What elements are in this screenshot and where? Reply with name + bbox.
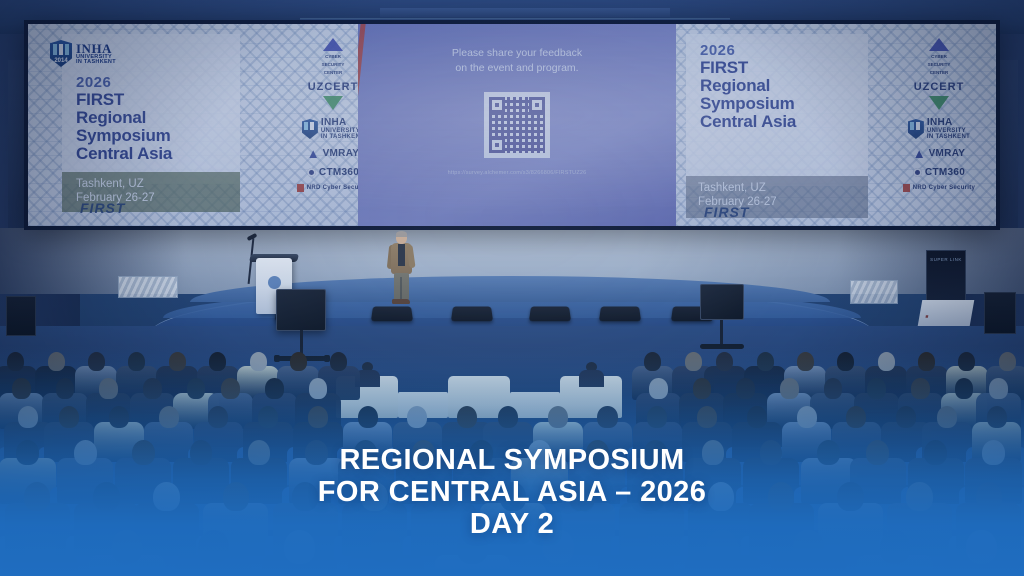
slide-title-block-left: 2026 FIRST Regional Symposium Central As… — [76, 74, 246, 163]
speaker-shoes — [392, 299, 410, 304]
ctm360-dot-icon — [913, 168, 922, 177]
csc-triangle-icon — [929, 38, 949, 51]
audience-member-head — [780, 378, 798, 399]
nrd-wordmark: NRD Cyber Security — [913, 185, 975, 191]
first-logo: FIRST — [704, 204, 749, 220]
csc-line1: CYBER — [931, 54, 947, 59]
venue-city: Tashkent, UZ — [76, 177, 240, 191]
inha-shield-bars — [53, 44, 69, 55]
headline-title: REGIONAL SYMPOSIUM FOR CENTRAL ASIA – 20… — [0, 444, 1024, 540]
inha-badge-year: 2014 — [54, 58, 67, 64]
pa-speaker-left — [6, 296, 36, 336]
audience-member-head — [685, 352, 702, 371]
nrd-wordmark: NRD Cyber Security — [307, 185, 358, 191]
audience-member-head — [837, 352, 854, 371]
vip-front-row — [336, 362, 636, 418]
csc-line3: CENTER — [324, 70, 343, 75]
audience-member-head — [99, 378, 117, 399]
inha-name: INHA — [927, 118, 970, 128]
stage-monitor — [529, 307, 571, 322]
audience-member-head — [999, 352, 1016, 371]
vip-person — [577, 362, 605, 386]
slide-panel-middle: Please share your feedback on the event … — [358, 24, 676, 226]
sponsor-vmray: ▲ VMRAY — [307, 146, 358, 161]
sponsor-nrd: NRD Cyber Security — [297, 184, 358, 192]
csc-line2: SECURITY — [928, 62, 951, 67]
headline-line-2: FOR CENTRAL ASIA – 2026 — [0, 476, 1024, 508]
audience-member-head — [597, 406, 617, 428]
audience-member-head — [644, 352, 661, 371]
audience-member-head — [918, 352, 935, 371]
sponsor-inha: INHA UNIVERSITY IN TASHKENT — [908, 118, 970, 140]
csc-line3: CENTER — [930, 70, 949, 75]
audience-member-head — [647, 406, 667, 428]
sponsor-cyber-security-center: CYBER SECURITY CENTER — [928, 38, 951, 75]
audience-member-head — [457, 406, 477, 428]
audience-member-head — [649, 378, 667, 399]
projection-screen: Tashkent, UZ February 26-27 2014 INHA UN… — [24, 20, 1000, 230]
floor-display-tag: ■ — [925, 314, 929, 320]
headline-line-3: DAY 2 — [0, 508, 1024, 540]
inha-shield-icon — [302, 119, 318, 139]
venue-city: Tashkent, UZ — [698, 181, 868, 195]
inha-sub2: IN TASHKENT — [76, 60, 116, 66]
audience-member-head — [18, 406, 38, 428]
speaker-shirt — [398, 244, 405, 266]
audience-member-head — [989, 378, 1007, 399]
lighting-truss-secondary — [380, 8, 670, 17]
sponsor-vmray: ▲ VMRAY — [913, 146, 966, 161]
csc-line1: CYBER — [325, 54, 341, 59]
audience-member-head — [736, 378, 754, 399]
vip-body — [579, 370, 604, 387]
vmray-wordmark: VMRAY — [929, 148, 966, 159]
stage-monitor — [371, 307, 413, 322]
pa-speaker-right — [984, 292, 1016, 334]
audience-member-head — [290, 352, 307, 371]
audience-member-head — [693, 378, 711, 399]
slide-title-regional: Regional — [700, 77, 870, 95]
nrd-square-icon — [903, 184, 910, 192]
audience-member-head — [824, 378, 842, 399]
audience-member-head — [128, 352, 145, 371]
vmray-wordmark: VMRAY — [323, 148, 358, 159]
audience-member-head — [330, 352, 347, 371]
audience-member-head — [498, 406, 518, 428]
slide-title-symposium: Symposium — [700, 95, 870, 113]
qr-code-pattern — [489, 97, 545, 153]
audience-member-head — [309, 378, 327, 399]
confidence-monitor-pole — [720, 320, 723, 346]
inha-sub2: IN TASHKENT — [927, 134, 970, 140]
audience-member-head — [697, 406, 717, 428]
audience-member-head — [955, 378, 973, 399]
stage-monitor — [599, 307, 641, 322]
vmray-mark-icon: ▲ — [307, 146, 320, 161]
slide-panel-right: Tashkent, UZ February 26-27 2026 FIRST R… — [676, 24, 996, 226]
audience-member-head — [846, 406, 866, 428]
sponsor-rail-left: CYBER SECURITY CENTER UZCERT INHA — [290, 32, 358, 226]
audience-member-head — [747, 406, 767, 428]
wall-vent — [118, 276, 178, 298]
slide-year: 2026 — [700, 42, 870, 59]
floor-display-stand: ■ — [918, 300, 975, 326]
inha-wordmark: INHA UNIVERSITY IN TASHKENT — [76, 42, 116, 66]
slide-title-regional: Regional — [76, 109, 246, 127]
confidence-monitor — [276, 289, 326, 331]
audience-member-head — [937, 406, 957, 428]
audience-member-head — [221, 378, 239, 399]
first-logo: FIRST — [80, 200, 125, 216]
sponsor-ctm360: CTM360 — [913, 167, 965, 178]
slide-title-central-asia: Central Asia — [76, 145, 246, 163]
audience-member-head — [169, 352, 186, 371]
inha-shield-icon — [908, 119, 924, 139]
confidence-monitor-base — [700, 344, 744, 349]
inha-shield-bars — [910, 122, 922, 130]
slide-year: 2026 — [76, 74, 246, 91]
ctm360-wordmark: CTM360 — [925, 167, 965, 178]
feedback-line-1: Please share your feedback — [358, 46, 676, 61]
uzcert-triangle-icon — [929, 96, 949, 110]
audience-member-head — [56, 378, 74, 399]
audience-member-head — [12, 378, 30, 399]
csc-line2: SECURITY — [322, 62, 345, 67]
headline-line-1: REGIONAL SYMPOSIUM — [0, 444, 1024, 476]
sponsor-rail-right: CYBER SECURITY CENTER UZCERT INHA — [896, 32, 982, 226]
audience-member-head — [878, 352, 895, 371]
qr-finder-icon — [489, 137, 505, 153]
stage-monitor — [451, 307, 493, 322]
sponsor-ctm360: CTM360 — [307, 167, 358, 178]
audience-member-head — [88, 352, 105, 371]
qr-code — [484, 92, 550, 158]
sponsor-inha: INHA UNIVERSITY IN TASHKENT — [302, 118, 358, 140]
feedback-message: Please share your feedback on the event … — [358, 46, 676, 76]
slide-title-central-asia: Central Asia — [700, 113, 870, 131]
slide-title-block-right: 2026 FIRST Regional Symposium Central As… — [700, 42, 870, 131]
audience-member-head — [358, 406, 378, 428]
audience-member-head — [209, 352, 226, 371]
sponsor-uzcert: UZCERT — [914, 81, 965, 110]
feedback-line-2: on the event and program. — [358, 61, 676, 76]
nrd-square-icon — [297, 184, 304, 192]
audience-member-head — [757, 352, 774, 371]
speaker-hair — [396, 231, 407, 237]
audience-member-head — [797, 406, 817, 428]
wall-vent — [850, 280, 898, 304]
uzcert-wordmark: UZCERT — [914, 81, 965, 93]
vmray-mark-icon: ▲ — [913, 146, 926, 161]
audience-member-head — [143, 378, 161, 399]
audience-member-head — [716, 352, 733, 371]
audience-member-head — [250, 352, 267, 371]
audience-member-head — [407, 406, 427, 428]
uzcert-triangle-icon — [323, 96, 343, 110]
survey-url: https://survey.alchemer.com/s3/8266806/F… — [358, 170, 676, 176]
audience-member-head — [987, 406, 1007, 428]
inha-university-logo: 2014 INHA UNIVERSITY IN TASHKENT — [50, 40, 116, 67]
audience-member-head — [958, 352, 975, 371]
inha-sub2: IN TASHKENT — [321, 134, 358, 140]
sponsor-cyber-security-center: CYBER SECURITY CENTER — [322, 38, 345, 75]
speaker-figure — [388, 232, 414, 304]
speaker-trousers — [394, 273, 409, 300]
qr-finder-icon — [529, 97, 545, 113]
audience-member-head — [258, 406, 278, 428]
audience-member-head — [911, 378, 929, 399]
conference-photo: Tashkent, UZ February 26-27 2014 INHA UN… — [0, 0, 1024, 576]
confidence-monitor-secondary — [700, 284, 744, 320]
audience-member-head — [548, 406, 568, 428]
podium-emblem — [268, 276, 281, 289]
qr-finder-icon — [489, 97, 505, 113]
inha-shield-bars — [304, 122, 316, 130]
rollup-banner-text: SUPER LINK — [927, 257, 965, 262]
sponsor-uzcert: UZCERT — [308, 81, 358, 110]
audience-member-head — [797, 352, 814, 371]
audience-member-head — [109, 406, 129, 428]
ctm360-dot-icon — [307, 168, 316, 177]
audience-member-head — [896, 406, 916, 428]
slide-title-first: FIRST — [76, 91, 246, 109]
audience-member-head — [867, 378, 885, 399]
slide-title-symposium: Symposium — [76, 127, 246, 145]
slide-title-first: FIRST — [700, 59, 870, 77]
ctm360-wordmark: CTM360 — [319, 167, 358, 178]
inha-name: INHA — [321, 118, 358, 128]
audience-member-head — [7, 352, 24, 371]
uzcert-wordmark: UZCERT — [308, 81, 358, 93]
audience-member-head — [159, 406, 179, 428]
audience-member-head — [59, 406, 79, 428]
audience-member-head — [308, 406, 328, 428]
sponsor-nrd: NRD Cyber Security — [903, 184, 975, 192]
audience-member-head — [48, 352, 65, 371]
audience-member-head — [208, 406, 228, 428]
csc-triangle-icon — [323, 38, 343, 51]
inha-name: INHA — [76, 42, 116, 55]
audience-member-head — [187, 378, 205, 399]
slide-panel-left: Tashkent, UZ February 26-27 2014 INHA UN… — [28, 24, 358, 226]
inha-shield-icon: 2014 — [50, 40, 72, 67]
audience-member-head — [265, 378, 283, 399]
